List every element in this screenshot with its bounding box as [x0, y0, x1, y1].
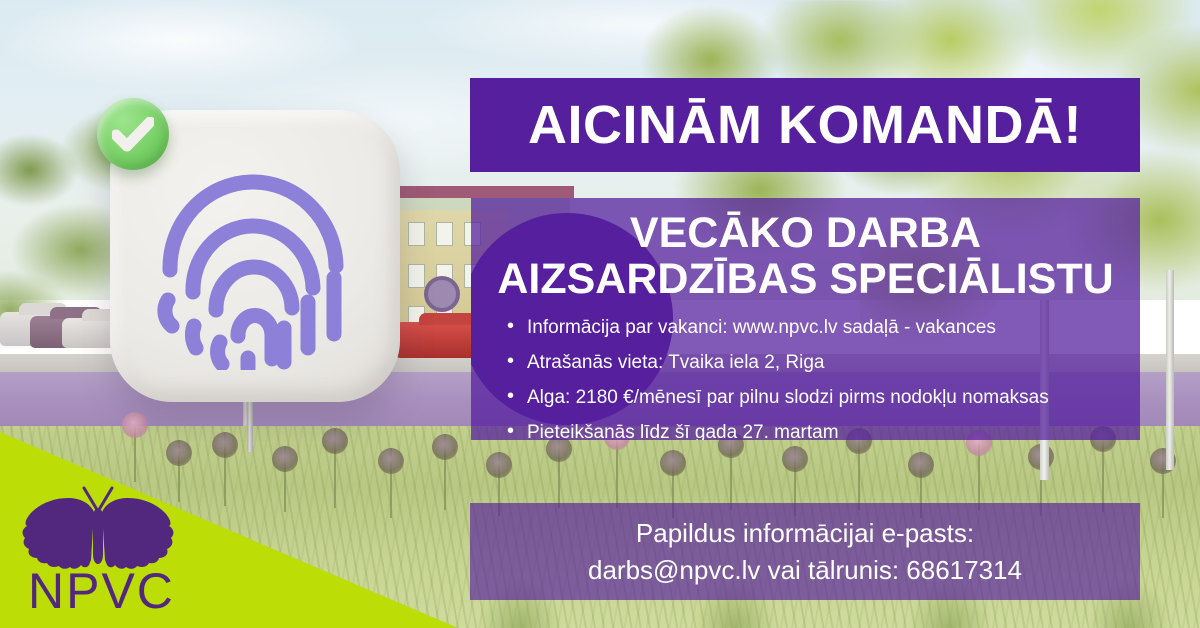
- contact-details: darbs@npvc.lv vai tālrunis: 68617314: [588, 552, 1022, 589]
- role-title-line-1: VECĀKO DARBA: [471, 198, 1140, 256]
- allium-flower: [718, 432, 744, 510]
- vacancy-panel: VECĀKO DARBA AIZSARDZĪBAS SPECIĀLISTU In…: [471, 198, 1140, 440]
- role-title-line-2: AIZSARDZĪBAS SPECIĀLISTU: [471, 256, 1140, 302]
- contact-label: Papildus informācijai e-pasts:: [636, 515, 974, 552]
- logo-wordmark: NPVC: [28, 562, 175, 620]
- fingerprint-icon: [138, 150, 368, 370]
- contact-panel: Papildus informācijai e-pasts: darbs@npv…: [470, 503, 1140, 600]
- birch-trunk: [1166, 270, 1174, 470]
- check-icon: [97, 98, 169, 170]
- job-advert-poster: NPVC AICINĀM KOMANDĀ! VECĀKO DARBA: [0, 0, 1200, 628]
- list-item: Alga: 2180 €/mēnesī par pilnu slodzi pir…: [505, 387, 1140, 409]
- vacancy-details-list: Informācija par vakanci: www.npvc.lv sad…: [505, 317, 1140, 440]
- headline-text: AICINĀM KOMANDĀ!: [528, 94, 1082, 156]
- allium-flower: [546, 436, 572, 508]
- list-item: Atrašanās vieta: Tvaika iela 2, Riga: [505, 352, 1140, 374]
- allium-flower: [846, 428, 872, 510]
- list-item: Informācija par vakanci: www.npvc.lv sad…: [505, 317, 1140, 339]
- allium-flower: [966, 430, 992, 510]
- headline-banner: AICINĀM KOMANDĀ!: [470, 78, 1140, 172]
- list-item: Pieteikšanās līdz šī gada 27. martam: [505, 422, 1140, 440]
